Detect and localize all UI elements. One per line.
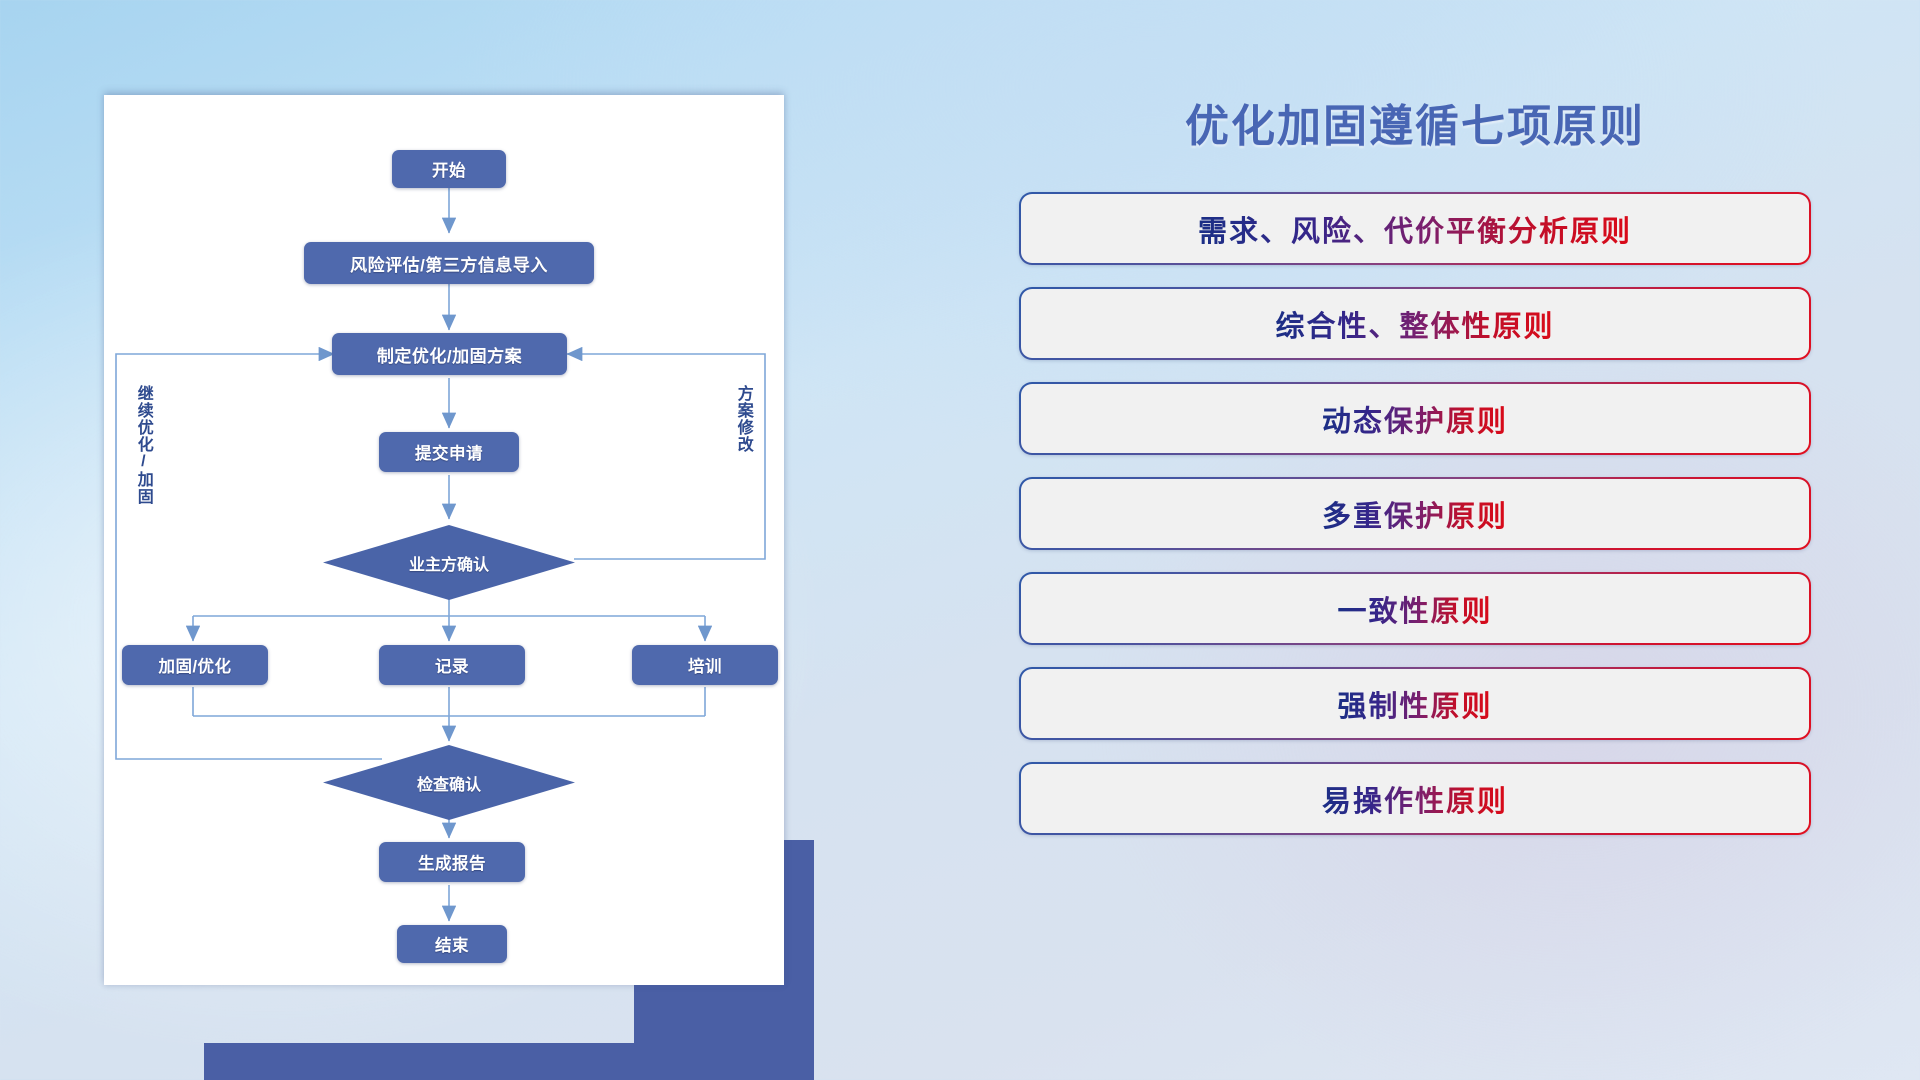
flow-node-record[interactable]: 记录 [379, 645, 525, 685]
flow-decision-owner-confirm[interactable]: 业主方确认 [323, 525, 575, 600]
principle-item-4-inner: 多重保护原则 [1021, 479, 1809, 548]
page-title: 优化加固遵循七项原则 [1010, 90, 1820, 154]
principle-item-5-label: 一致性原则 [1337, 588, 1492, 630]
principle-item-2-label: 综合性、整体性原则 [1275, 303, 1554, 345]
flow-node-reinforce-label: 加固/优化 [158, 653, 231, 677]
principle-item-3[interactable]: 动态保护原则 [1019, 382, 1811, 455]
flow-node-plan[interactable]: 制定优化/加固方案 [332, 333, 567, 375]
principle-item-6-inner: 强制性原则 [1021, 669, 1809, 738]
flow-label-plan-revision: 方案修改 [734, 385, 751, 453]
principle-item-3-label: 动态保护原则 [1322, 398, 1508, 440]
principle-item-5-inner: 一致性原则 [1021, 574, 1809, 643]
flow-node-report[interactable]: 生成报告 [379, 842, 525, 882]
flow-node-training-label: 培训 [688, 653, 722, 677]
flow-node-start[interactable]: 开始 [392, 150, 506, 188]
flow-node-end[interactable]: 结束 [397, 925, 507, 963]
principle-item-2-inner: 综合性、整体性原则 [1021, 289, 1809, 358]
flow-node-training[interactable]: 培训 [632, 645, 778, 685]
principle-item-4[interactable]: 多重保护原则 [1019, 477, 1811, 550]
principle-item-7-label: 易操作性原则 [1322, 778, 1508, 820]
principle-item-6-label: 强制性原则 [1337, 683, 1492, 725]
principle-item-4-label: 多重保护原则 [1322, 493, 1508, 535]
flow-node-record-label: 记录 [435, 653, 469, 677]
principle-item-5[interactable]: 一致性原则 [1019, 572, 1811, 645]
principle-item-7[interactable]: 易操作性原则 [1019, 762, 1811, 835]
flowchart-panel: 开始 风险评估/第三方信息导入 制定优化/加固方案 提交申请 业主方确认 加固/… [104, 95, 784, 1000]
flow-node-start-label: 开始 [432, 157, 466, 181]
principle-item-1[interactable]: 需求、风险、代价平衡分析原则 [1019, 192, 1811, 265]
principle-item-3-inner: 动态保护原则 [1021, 384, 1809, 453]
flow-node-plan-label: 制定优化/加固方案 [377, 342, 522, 367]
flow-label-plan-revision-text: 方案修改 [735, 385, 752, 453]
principles-panel: 优化加固遵循七项原则 需求、风险、代价平衡分析原则 综合性、整体性原则 动态保护… [1010, 90, 1820, 1020]
flow-label-continue-optimize-text: 继续优化/加固 [135, 385, 152, 505]
flow-node-risk-assessment[interactable]: 风险评估/第三方信息导入 [304, 242, 594, 284]
flow-label-continue-optimize: 继续优化/加固 [134, 385, 151, 505]
flow-node-report-label: 生成报告 [418, 850, 486, 874]
flowchart-card: 开始 风险评估/第三方信息导入 制定优化/加固方案 提交申请 业主方确认 加固/… [104, 95, 784, 985]
flow-node-submit-label: 提交申请 [415, 440, 483, 464]
flow-node-end-label: 结束 [435, 932, 469, 956]
principle-item-1-label: 需求、风险、代价平衡分析原则 [1198, 208, 1632, 250]
flow-node-submit[interactable]: 提交申请 [379, 432, 519, 472]
principle-item-2[interactable]: 综合性、整体性原则 [1019, 287, 1811, 360]
principle-item-1-inner: 需求、风险、代价平衡分析原则 [1021, 194, 1809, 263]
principle-item-6[interactable]: 强制性原则 [1019, 667, 1811, 740]
flow-node-reinforce[interactable]: 加固/优化 [122, 645, 268, 685]
flow-node-risk-assessment-label: 风险评估/第三方信息导入 [350, 251, 548, 276]
flow-decision-inspection-label: 检查确认 [417, 771, 481, 795]
flow-decision-owner-confirm-label: 业主方确认 [409, 551, 489, 575]
flow-decision-inspection[interactable]: 检查确认 [323, 745, 575, 820]
principle-item-7-inner: 易操作性原则 [1021, 764, 1809, 833]
